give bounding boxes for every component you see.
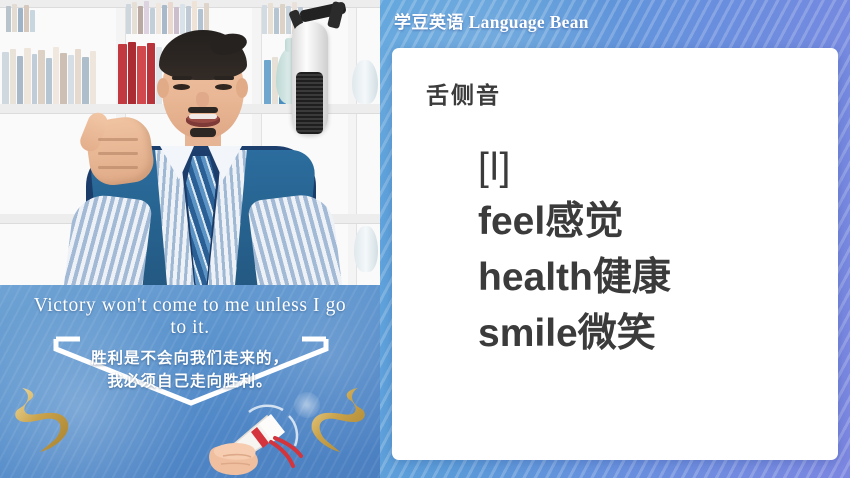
- chin-beard: [190, 128, 216, 137]
- gold-ribbon-icon: [8, 386, 80, 454]
- knuckle-line: [98, 166, 138, 169]
- moustache: [188, 107, 218, 113]
- motivational-quote-overlay: Victory won't come to me unless I go to …: [0, 285, 380, 478]
- phonetic-symbol: [l]: [478, 142, 671, 194]
- brand-title-en: Language Bean: [464, 12, 589, 32]
- instructor-video-pane[interactable]: Victory won't come to me unless I go to …: [0, 0, 380, 478]
- eyebrow-right: [214, 76, 234, 80]
- party-popper-icon: [205, 394, 309, 478]
- gold-ribbon-icon: [300, 386, 372, 454]
- eye-right: [215, 84, 232, 90]
- vocabulary-item: feel感觉: [478, 194, 671, 250]
- ear-left: [157, 78, 169, 98]
- vocabulary-item: smile微笑: [478, 306, 671, 362]
- quote-chinese-line-2: 我必须自己走向胜利。: [58, 370, 322, 393]
- word-list: [l] feel感觉 health健康 smile微笑: [478, 142, 671, 362]
- vocabulary-item: health健康: [478, 250, 671, 306]
- brand-title-cn: 学豆英语: [394, 13, 464, 32]
- mouth: [186, 114, 220, 127]
- ear-right: [236, 78, 248, 98]
- lesson-title: 舌侧音: [426, 76, 501, 110]
- eye-left: [173, 84, 190, 90]
- hair: [159, 30, 247, 80]
- lesson-slide-pane: 学豆英语 Language Bean 舌侧音 [l] feel感觉 health…: [380, 0, 850, 478]
- brand-title: 学豆英语 Language Bean: [394, 8, 589, 33]
- knuckle-line: [98, 152, 138, 155]
- lesson-content-card: 舌侧音 [l] feel感觉 health健康 smile微笑: [392, 48, 838, 460]
- knuckle-line: [98, 138, 138, 141]
- nose: [196, 92, 209, 108]
- screen: Victory won't come to me unless I go to …: [0, 0, 850, 478]
- quote-chinese-line-1: 胜利是不会向我们走来的，: [58, 347, 322, 370]
- eyebrow-left: [172, 76, 192, 80]
- slide-header: 学豆英语 Language Bean: [380, 0, 850, 40]
